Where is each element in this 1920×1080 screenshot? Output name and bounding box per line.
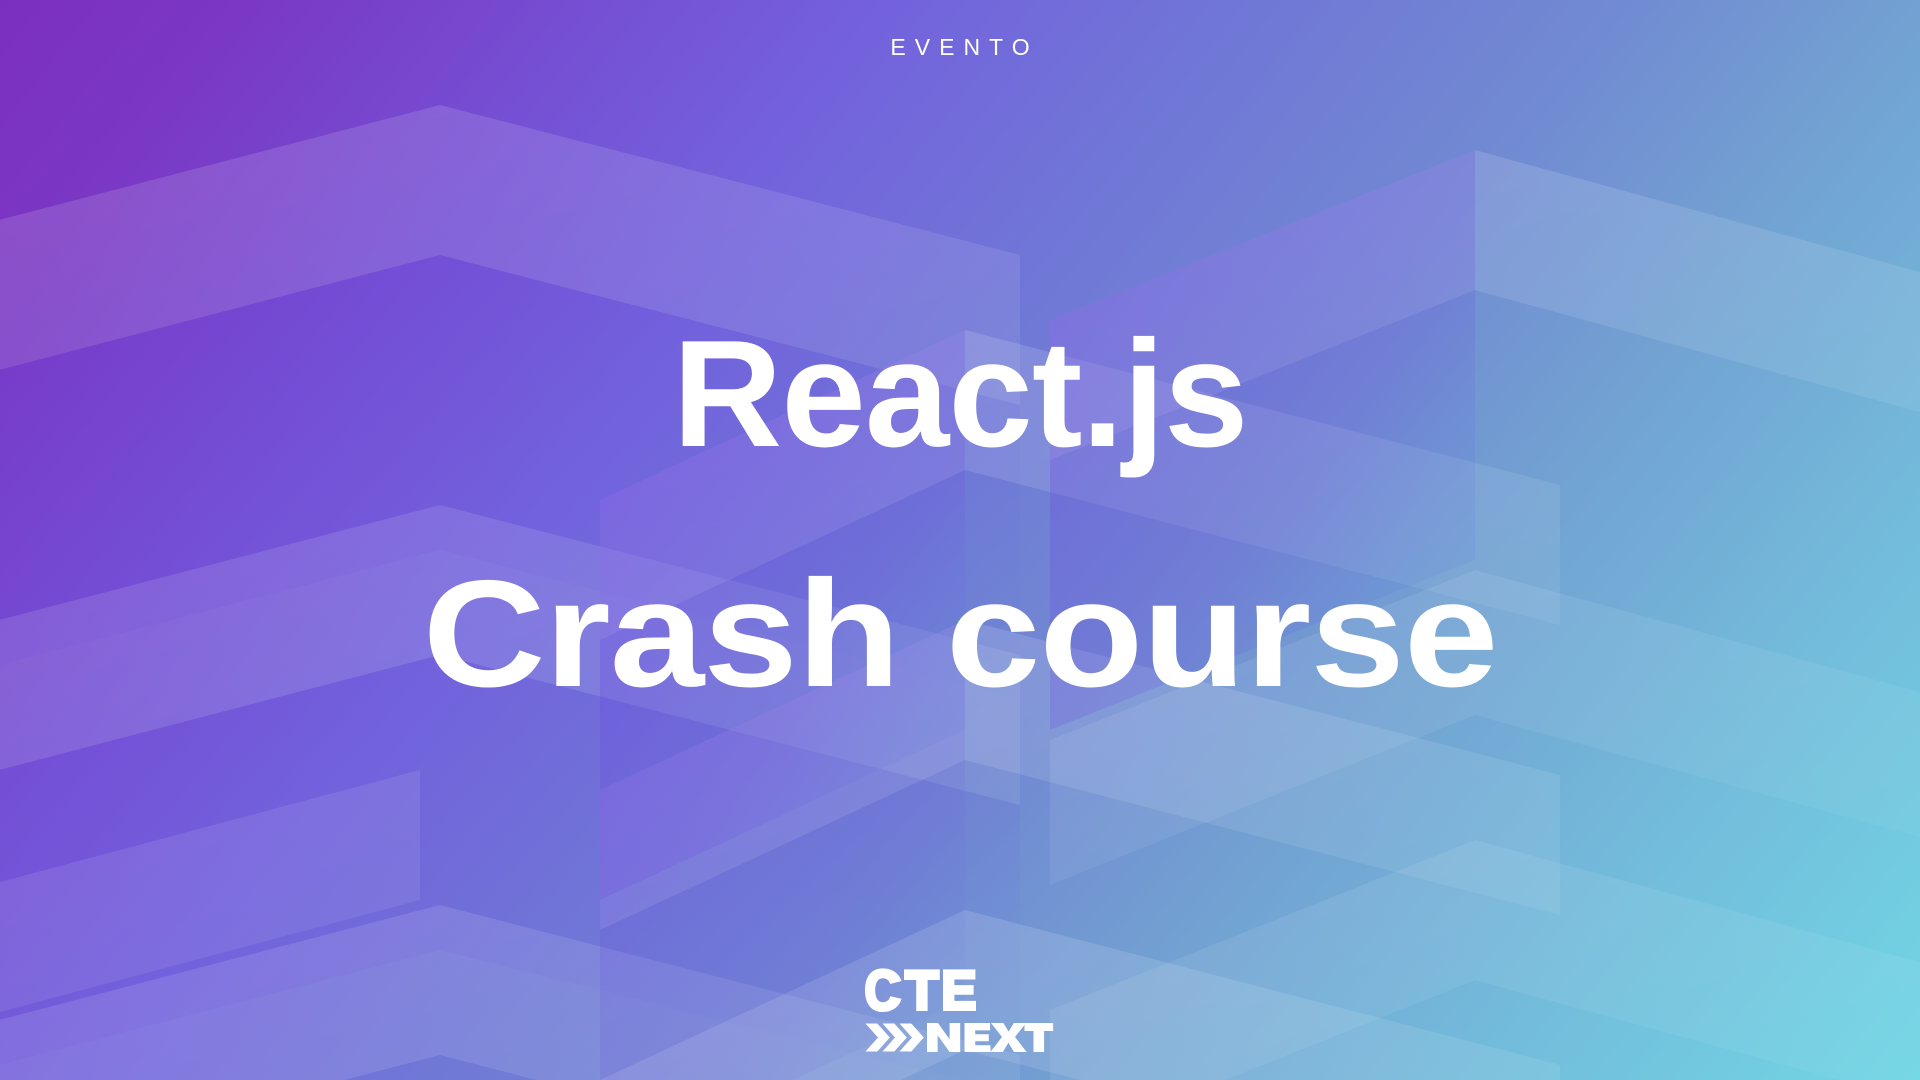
logo-next-wordmark bbox=[927, 1023, 1053, 1052]
triple-chevron-right-icon bbox=[866, 1024, 924, 1052]
slide-title-block: React.js Crash course bbox=[0, 318, 1920, 710]
event-kicker-label: EVENTO bbox=[0, 34, 1920, 62]
presentation-slide: EVENTO React.js Crash course bbox=[0, 0, 1920, 1080]
slide-content: EVENTO React.js Crash course bbox=[0, 0, 1920, 1080]
slide-title-line-2: Crash course bbox=[0, 558, 1920, 710]
cte-next-logo bbox=[865, 968, 1055, 1056]
slide-title-line-1: React.js bbox=[0, 318, 1920, 470]
logo-cte-wordmark bbox=[865, 968, 976, 1012]
